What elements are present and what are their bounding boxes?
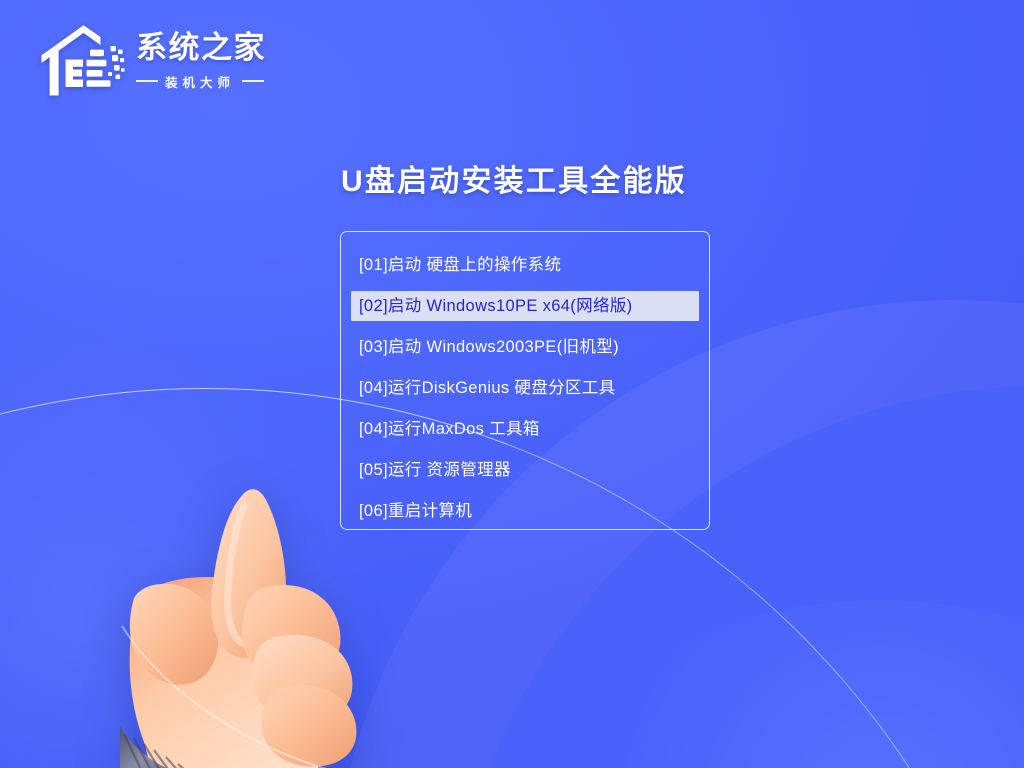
boot-menu-item-03[interactable]: [03]启动 Windows2003PE(旧机型): [351, 332, 699, 362]
boot-menu-item-01[interactable]: [01]启动 硬盘上的操作系统: [351, 250, 699, 280]
brand-name: 系统之家: [136, 31, 266, 64]
tagline-dash-left: [136, 80, 158, 82]
boot-menu-item-04-diskgenius[interactable]: [04]运行DiskGenius 硬盘分区工具: [351, 373, 699, 403]
boot-menu-item-02[interactable]: [02]启动 Windows10PE x64(网络版): [351, 291, 699, 321]
brand-logo-text: 系统之家 装机大师: [136, 31, 266, 90]
tagline-dash-right: [242, 80, 264, 82]
page-title: U盘启动安装工具全能版: [341, 156, 687, 200]
brand-tagline-row: 装机大师: [136, 72, 266, 91]
brand-logo: 系统之家 装机大师: [38, 20, 288, 102]
boot-menu-item-06[interactable]: [06]重启计算机: [351, 496, 699, 526]
boot-menu-box: [01]启动 硬盘上的操作系统 [02]启动 Windows10PE x64(网…: [340, 231, 710, 530]
house-pixel-logo-icon: [38, 23, 130, 99]
boot-menu-list[interactable]: [01]启动 硬盘上的操作系统 [02]启动 Windows10PE x64(网…: [341, 250, 709, 526]
brand-tagline: 装机大师: [165, 72, 235, 91]
boot-menu-screen: 系统之家 装机大师 U盘启动安装工具全能版 [01]启动 硬盘上的操作系统 [0…: [0, 0, 1024, 768]
boot-menu-item-05[interactable]: [05]运行 资源管理器: [351, 455, 699, 485]
boot-menu-item-04-maxdos[interactable]: [04]运行MaxDos 工具箱: [351, 414, 699, 444]
